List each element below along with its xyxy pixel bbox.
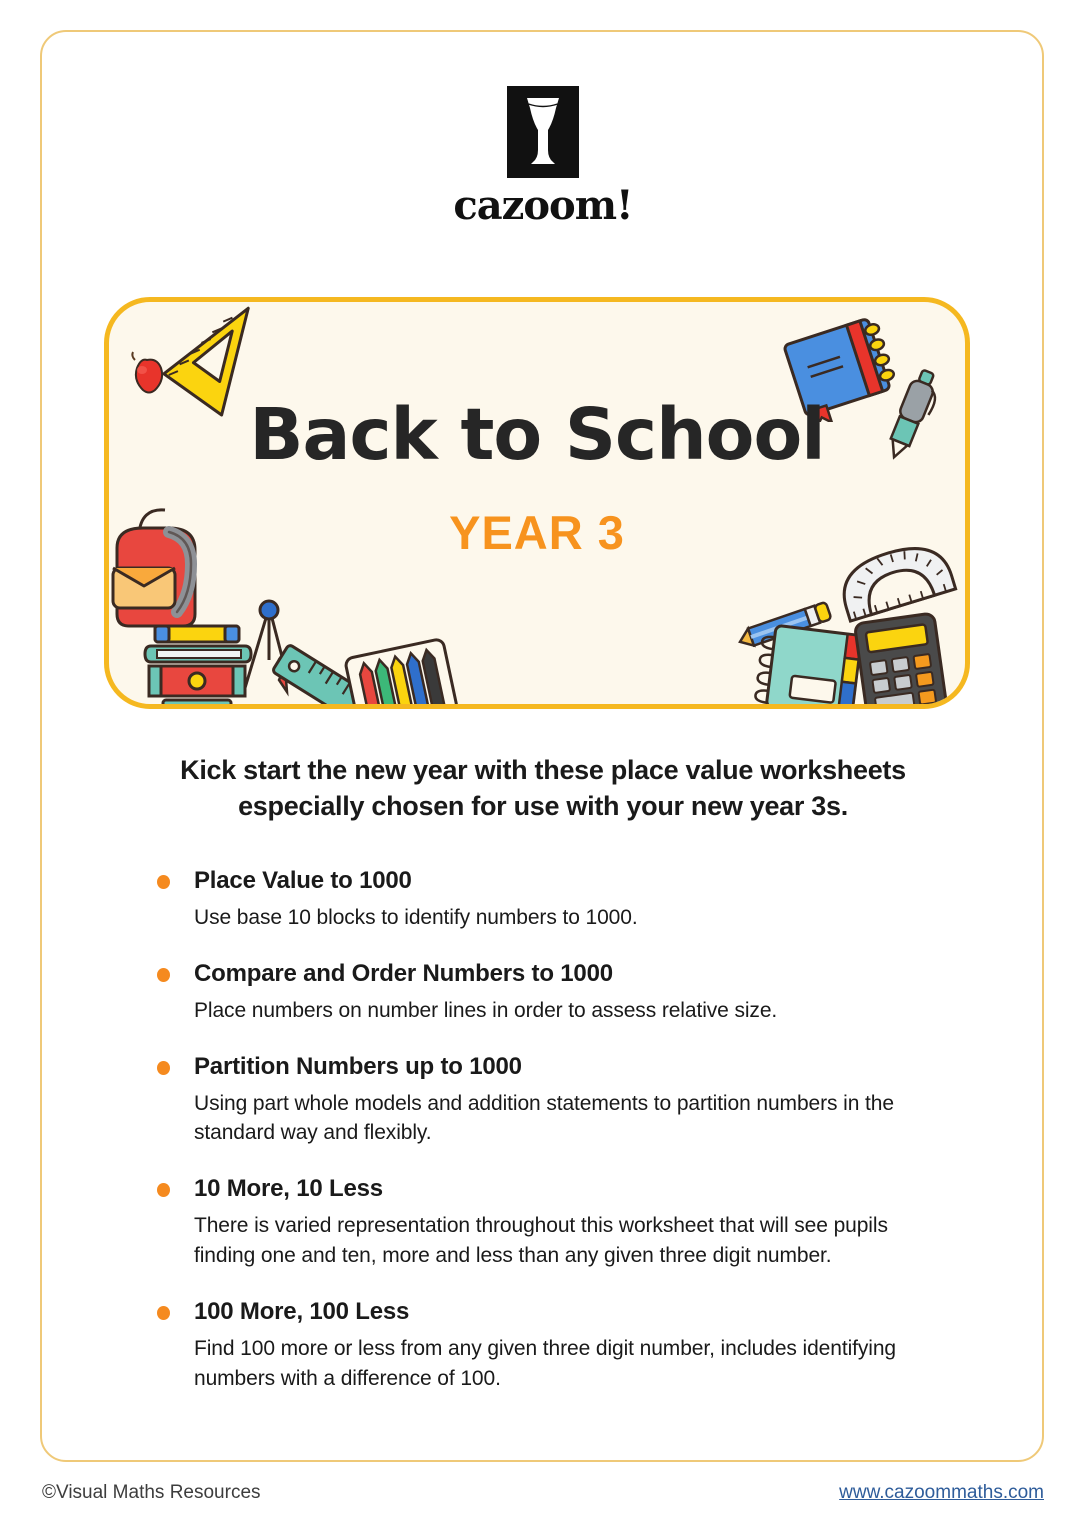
calculator-icon bbox=[853, 612, 949, 709]
bullet-dot-icon bbox=[157, 875, 170, 889]
brand-wordmark: cazoom! bbox=[453, 186, 632, 226]
topic-description: Place numbers on number lines in order t… bbox=[194, 996, 954, 1026]
topic-title: 100 More, 100 Less bbox=[194, 1297, 976, 1327]
topic-title: Place Value to 1000 bbox=[194, 866, 976, 896]
bullet-dot-icon bbox=[157, 1061, 170, 1075]
hero-card: Back to School YEAR 3 bbox=[104, 297, 970, 709]
list-item: Compare and Order Numbers to 1000 Place … bbox=[152, 959, 976, 1026]
list-item: Place Value to 1000 Use base 10 blocks t… bbox=[152, 866, 976, 933]
bullet-dot-icon bbox=[157, 968, 170, 982]
topic-description: Use base 10 blocks to identify numbers t… bbox=[194, 903, 954, 933]
topic-list: Place Value to 1000 Use base 10 blocks t… bbox=[152, 866, 976, 1420]
list-item: Partition Numbers up to 1000 Using part … bbox=[152, 1052, 976, 1149]
page-footer: ©Visual Maths Resources www.cazoommaths.… bbox=[42, 1482, 1044, 1504]
hero-subtitle: YEAR 3 bbox=[109, 505, 965, 560]
topic-description: There is varied representation throughou… bbox=[194, 1211, 954, 1271]
topic-title: 10 More, 10 Less bbox=[194, 1174, 976, 1204]
footer-copyright: ©Visual Maths Resources bbox=[42, 1482, 261, 1504]
topic-description: Using part whole models and addition sta… bbox=[194, 1089, 954, 1149]
topic-title: Partition Numbers up to 1000 bbox=[194, 1052, 976, 1082]
intro-paragraph: Kick start the new year with these place… bbox=[120, 752, 966, 825]
topic-description: Find 100 more or less from any given thr… bbox=[194, 1334, 954, 1394]
hero-text-block: Back to School YEAR 3 bbox=[109, 398, 965, 560]
list-item: 100 More, 100 Less Find 100 more or less… bbox=[152, 1297, 976, 1394]
list-item: 10 More, 10 Less There is varied represe… bbox=[152, 1174, 976, 1271]
cazoom-drum-logo-icon bbox=[507, 86, 579, 178]
topic-title: Compare and Order Numbers to 1000 bbox=[194, 959, 976, 989]
colored-pencils-case-icon bbox=[341, 632, 461, 709]
hero-title: Back to School bbox=[109, 398, 965, 473]
brand-logo: cazoom! bbox=[0, 86, 1086, 226]
bullet-dot-icon bbox=[157, 1183, 170, 1197]
bullet-dot-icon bbox=[157, 1306, 170, 1320]
footer-website-link[interactable]: www.cazoommaths.com bbox=[839, 1482, 1044, 1504]
